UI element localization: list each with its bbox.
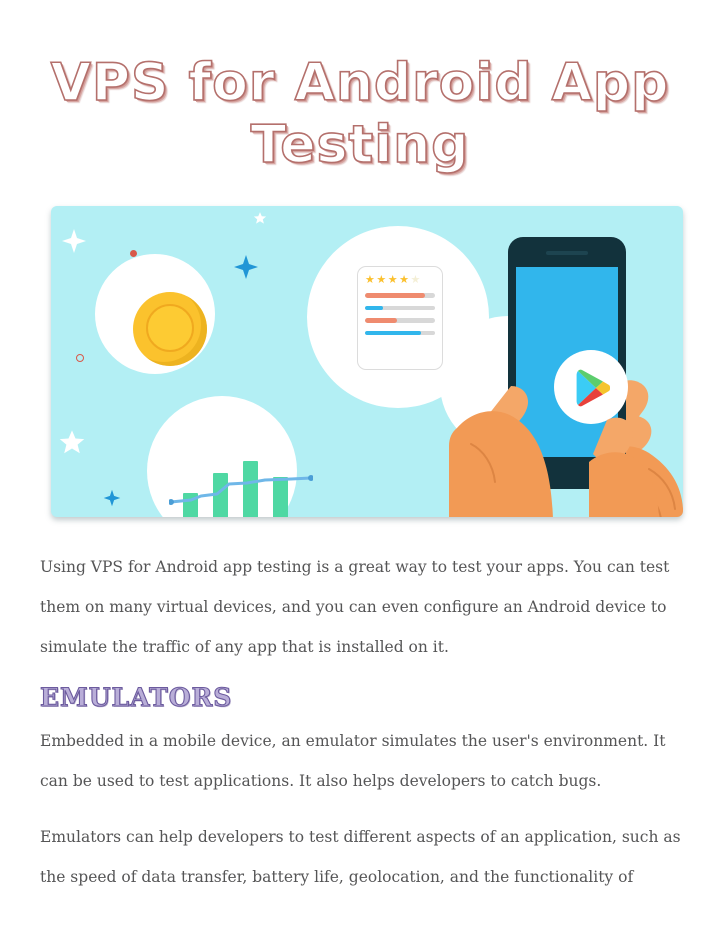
page-title: VPS for Android App Testing [40, 52, 680, 176]
star-white-icon [58, 428, 86, 456]
google-play-icon [576, 369, 610, 407]
android-app-testing-illustration: ★ ★ ★ ★ ★ [51, 206, 683, 517]
phone-speaker [546, 251, 588, 255]
review-card-icon: ★ ★ ★ ★ ★ [357, 266, 443, 370]
progress-bar [365, 331, 435, 336]
star-icon: ★ [399, 275, 409, 286]
hand-left-illustration [449, 384, 579, 517]
sparkle-blue-small-icon [103, 489, 121, 507]
pointing-finger-illustration [589, 414, 669, 517]
sparkle-blue-icon [233, 254, 259, 280]
progress-bar [365, 293, 435, 298]
page-title-line-1: VPS for Android App [40, 52, 680, 114]
paragraph-emulator-definition: Embedded in a mobile device, an emulator… [40, 721, 682, 801]
document-page: VPS for Android App Testing [0, 0, 720, 931]
progress-bar [365, 318, 435, 323]
progress-bar [365, 306, 435, 311]
star-icon: ★ [388, 275, 398, 286]
star-rating: ★ ★ ★ ★ ★ [365, 275, 435, 286]
gold-coin-icon [133, 292, 207, 366]
star-icon-empty: ★ [411, 275, 421, 286]
trend-line-icon [169, 474, 313, 508]
section-heading-emulators: EMULATORS [40, 683, 232, 712]
paragraph-intro: Using VPS for Android app testing is a g… [40, 547, 682, 667]
star-white-small-icon [253, 211, 267, 225]
dot-red-outline [76, 354, 84, 362]
star-icon: ★ [376, 275, 386, 286]
page-title-line-2: Testing [40, 114, 680, 176]
paragraph-emulator-benefits: Emulators can help developers to test di… [40, 817, 682, 897]
sparkle-white-icon [61, 228, 87, 254]
star-icon: ★ [365, 275, 375, 286]
